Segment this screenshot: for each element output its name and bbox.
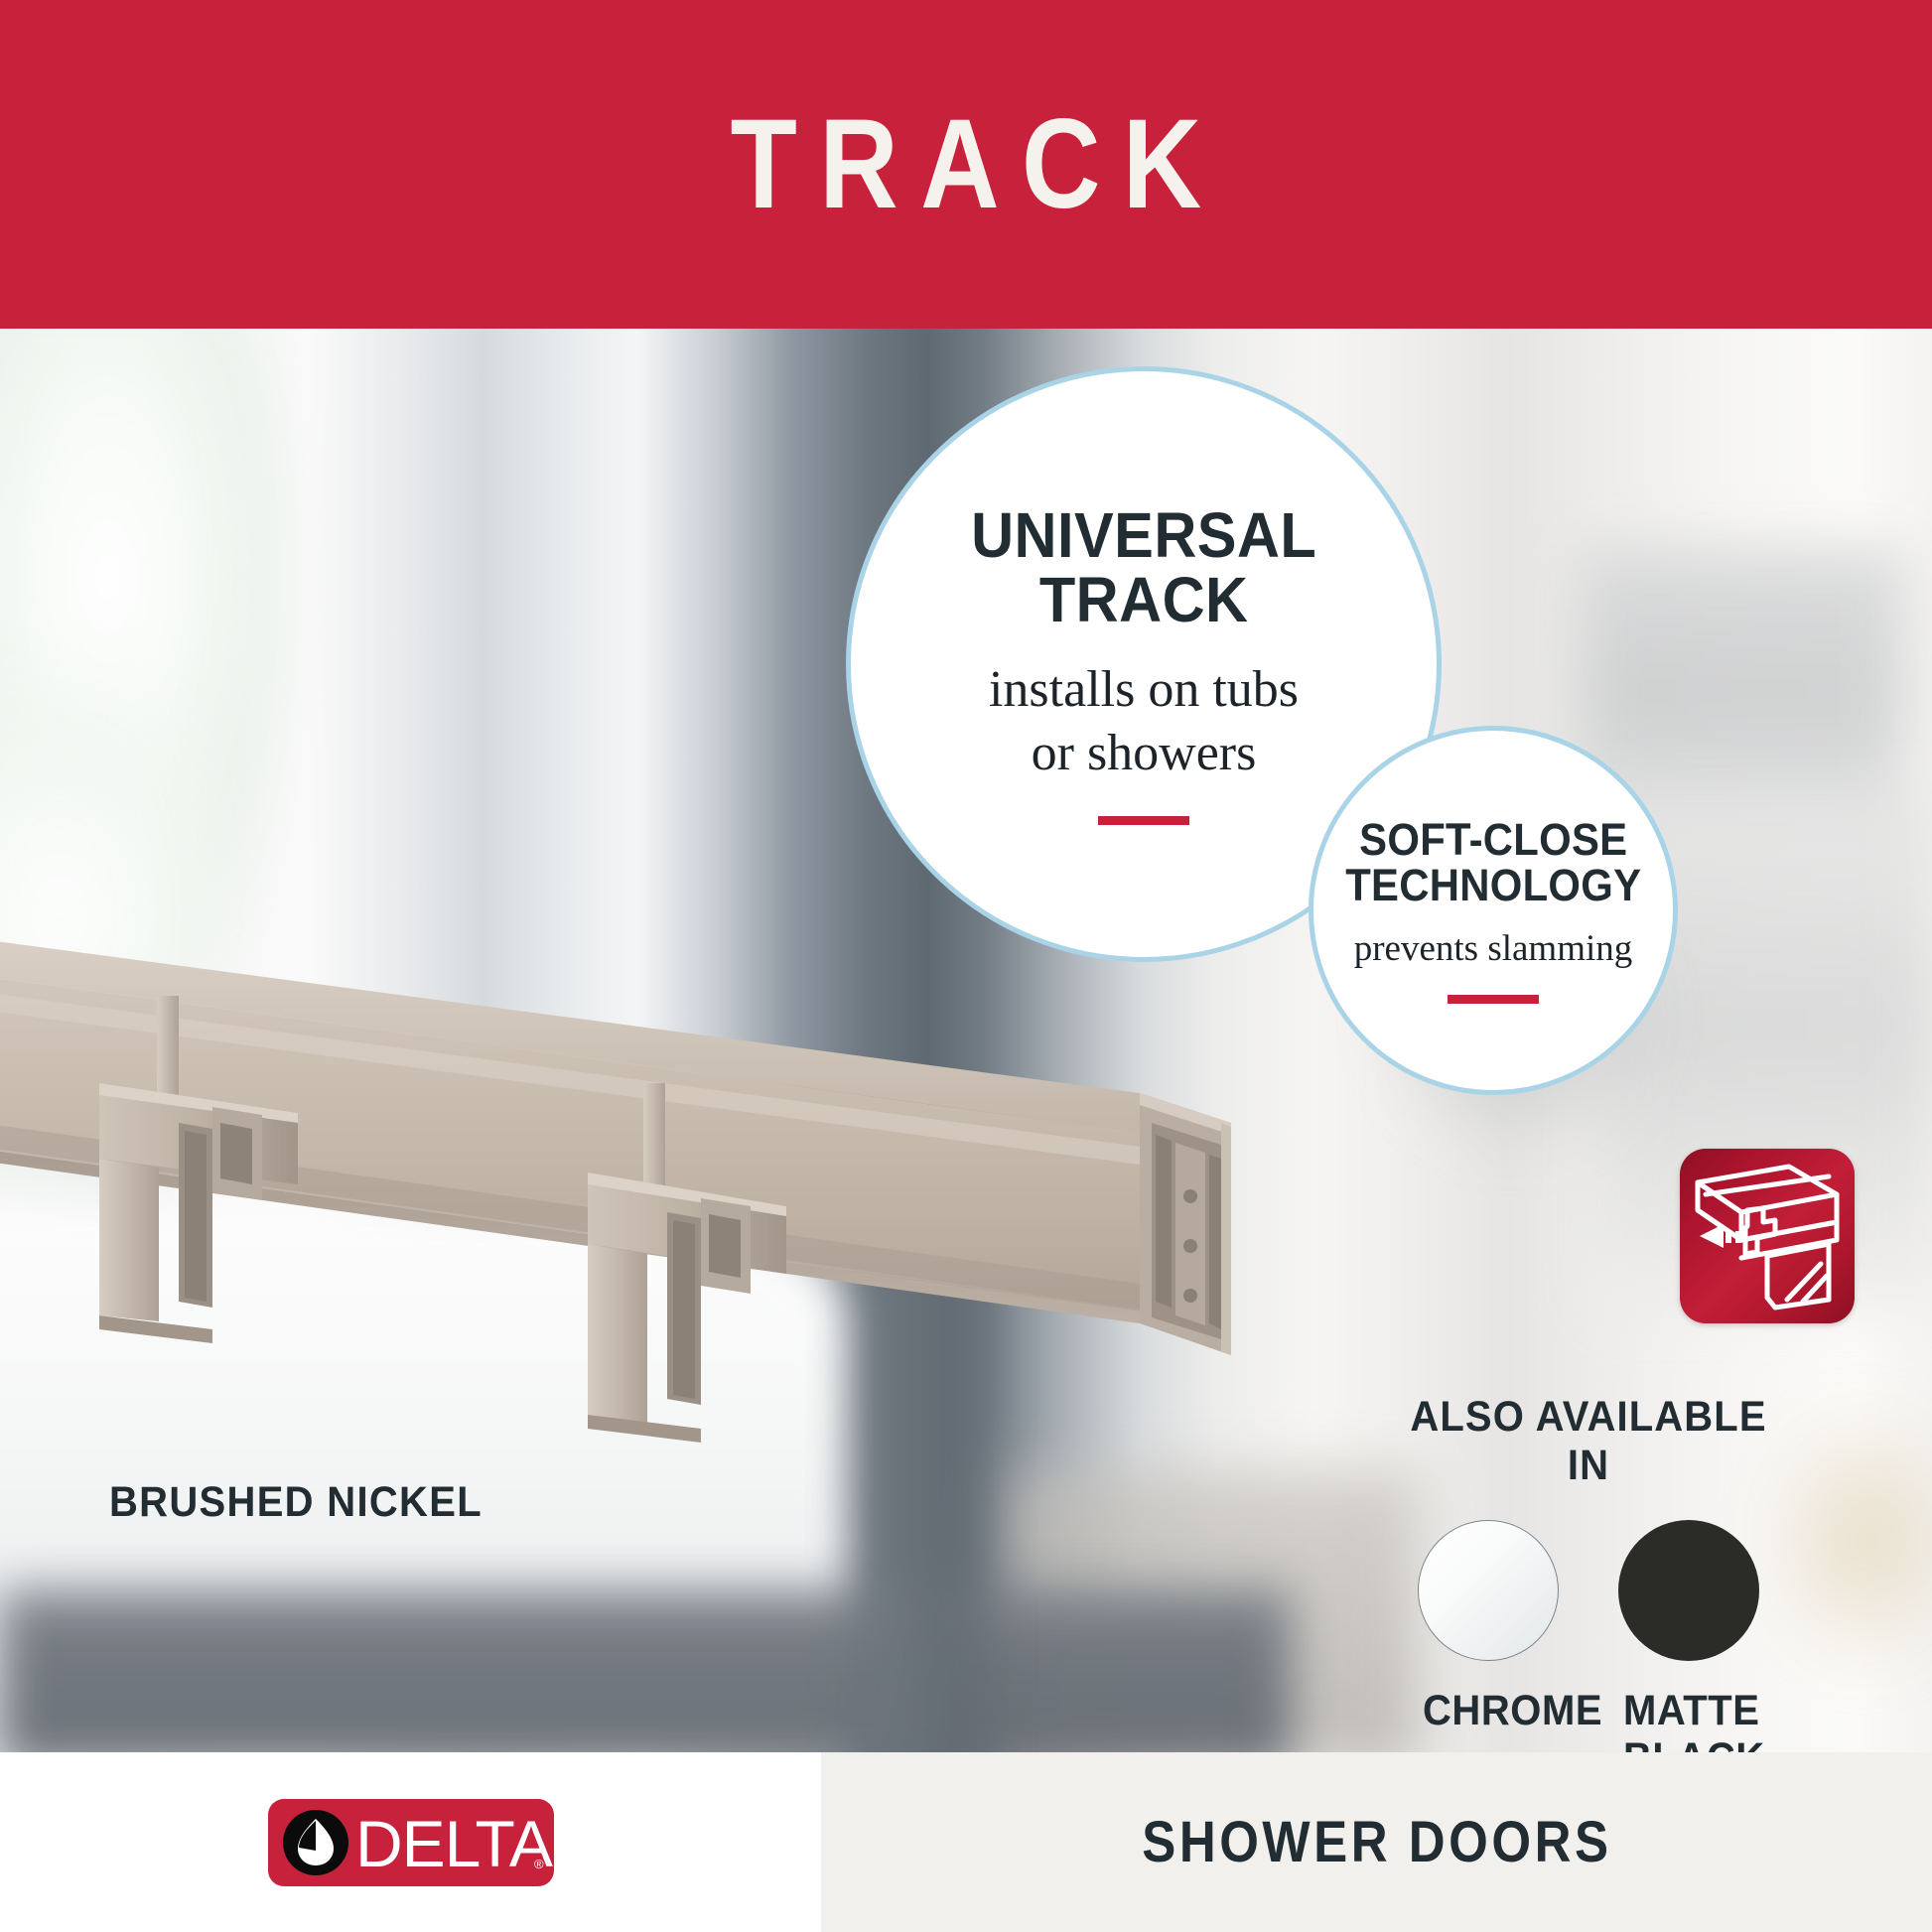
product-photo-stage: UNIVERSAL TRACK installs on tubs or show… — [0, 329, 1932, 1752]
callout-subtext-line1: prevents slamming — [1354, 926, 1633, 971]
callout-accent-dash — [1098, 816, 1189, 825]
swatch-matte-black[interactable]: MATTE BLACK — [1618, 1520, 1759, 1752]
callout-headline-line1: UNIVERSAL — [971, 503, 1316, 568]
delta-wordmark: DELTA — [355, 1807, 553, 1880]
footer-brand-panel: DELTA ® — [0, 1752, 821, 1932]
callout-headline-line2: TRACK — [971, 568, 1316, 632]
callout-headline-line2: TECHNOLOGY — [1345, 863, 1641, 908]
swatch-matte-black-dot — [1618, 1520, 1759, 1661]
registered-mark: ® — [534, 1857, 544, 1871]
callout-accent-dash — [1448, 995, 1539, 1004]
callout-headline: UNIVERSAL TRACK — [971, 503, 1316, 633]
swatch-matte-black-label: MATTE BLACK — [1623, 1687, 1754, 1752]
swatch-section-title: ALSO AVAILABLE IN — [1404, 1393, 1773, 1490]
callout-subtext-line2: or showers — [989, 722, 1299, 784]
background-dark-band — [839, 1143, 1008, 1752]
swatch-chrome-label: CHROME — [1423, 1687, 1554, 1734]
callout-subtext-line1: installs on tubs — [989, 658, 1299, 721]
footer-tagline: SHOWER DOORS — [1142, 1809, 1611, 1875]
header-banner: TRACK — [0, 0, 1932, 329]
footer-tagline-panel: SHOWER DOORS — [821, 1752, 1932, 1932]
callout-subtext: installs on tubs or showers — [989, 658, 1299, 784]
callout-headline-line1: SOFT-CLOSE — [1345, 817, 1641, 863]
page-title: TRACK — [708, 101, 1223, 228]
swatch-row: CHROME MATTE BLACK — [1390, 1520, 1787, 1752]
footer: DELTA ® SHOWER DOORS — [0, 1752, 1932, 1932]
background-floor — [0, 1589, 1291, 1752]
product-feature-graphic: TRACK — [0, 0, 1932, 1932]
swatch-chrome[interactable]: CHROME — [1418, 1520, 1559, 1752]
soft-close-track-icon — [1680, 1149, 1855, 1323]
delta-logo-artwork: DELTA ® — [268, 1799, 554, 1886]
swatch-chrome-dot — [1418, 1520, 1559, 1661]
background-window-light-lower — [0, 656, 238, 1173]
also-available-in-section: ALSO AVAILABLE IN CHROME MATTE BLACK — [1390, 1393, 1787, 1752]
callout-soft-close: SOFT-CLOSE TECHNOLOGY prevents slamming — [1309, 726, 1678, 1095]
callout-subtext: prevents slamming — [1354, 926, 1633, 971]
callout-headline: SOFT-CLOSE TECHNOLOGY — [1345, 817, 1641, 908]
delta-logo: DELTA ® — [268, 1799, 554, 1886]
finish-caption: BRUSHED NICKEL — [109, 1478, 483, 1527]
